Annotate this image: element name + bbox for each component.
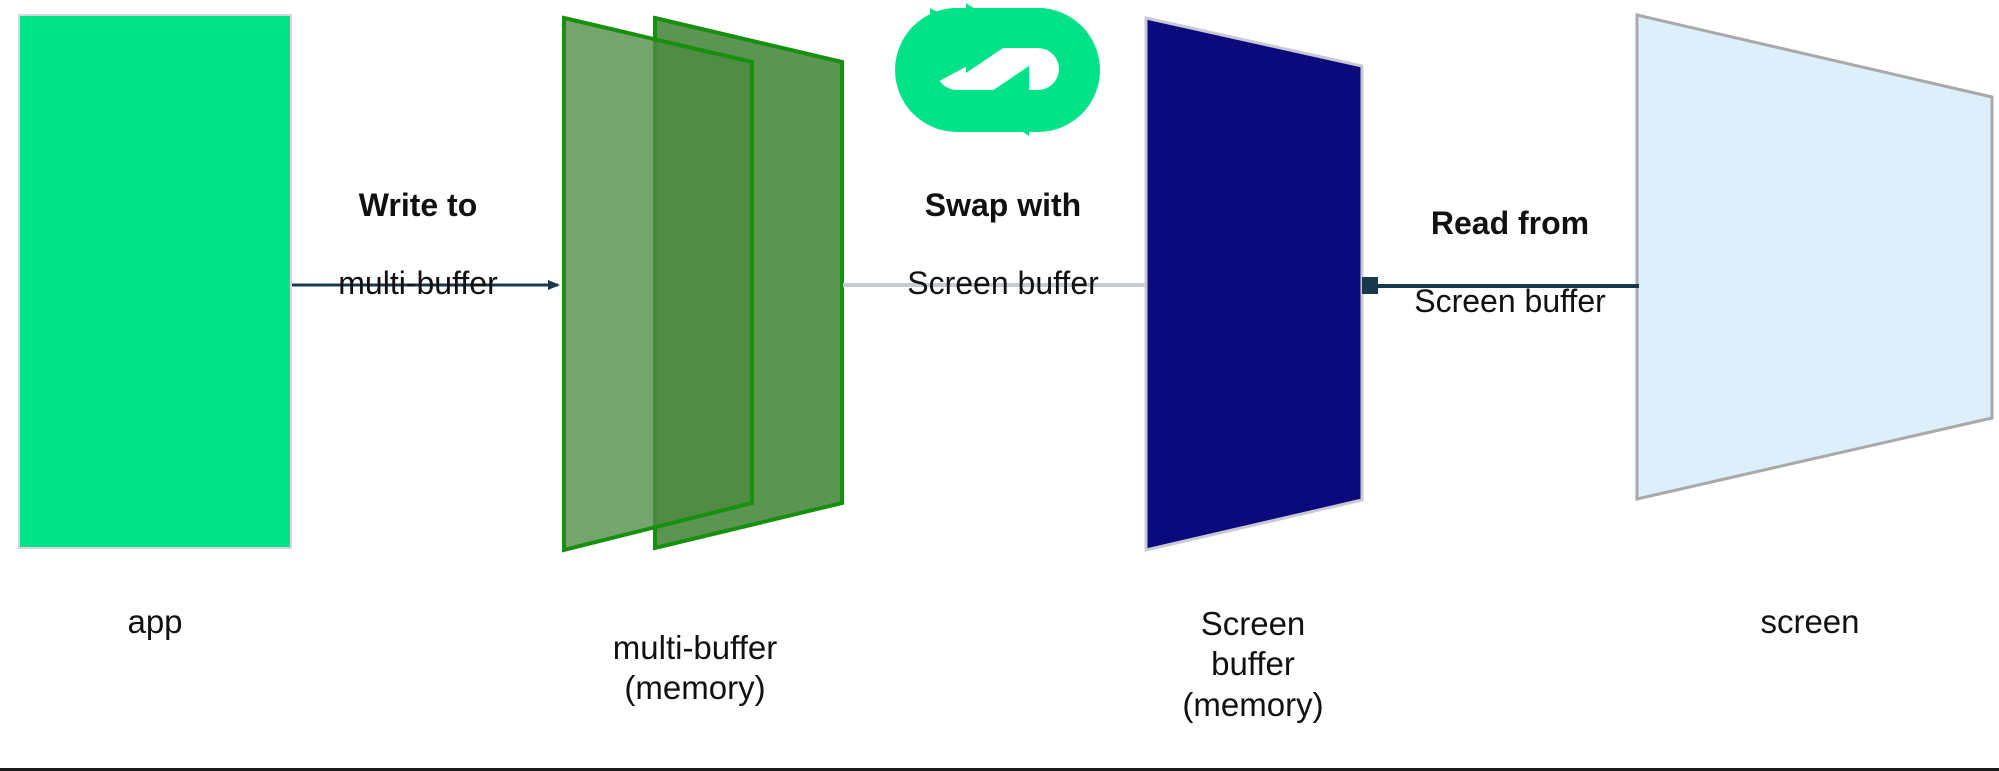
node-multi-buffer-label: multi-buffer (memory) [545, 628, 845, 709]
edge-write-label-regular: multi-buffer [280, 264, 556, 303]
diagram-canvas: app multi-buffer (memory) Screen buffer … [0, 0, 1999, 771]
edge-swap-label-regular: Screen buffer [855, 264, 1151, 303]
edge-swap-label-bold: Swap with [855, 186, 1151, 225]
diagram-shapes-layer [0, 0, 1999, 771]
node-screen-buffer-shape[interactable] [1146, 18, 1362, 550]
node-screen-buffer-label: Screen buffer (memory) [1113, 604, 1393, 725]
node-screen-label: screen [1670, 602, 1950, 642]
node-multi-buffer-slab-front[interactable] [564, 18, 752, 550]
edge-write-label: Write to multi-buffer [280, 147, 556, 342]
edge-swap-label: Swap with Screen buffer [855, 147, 1151, 342]
edge-read-label: Read from Screen buffer [1366, 165, 1654, 360]
node-app-label: app [18, 602, 292, 642]
edge-read-label-bold: Read from [1366, 204, 1654, 243]
edge-write-label-bold: Write to [280, 186, 556, 225]
edge-read-label-regular: Screen buffer [1366, 282, 1654, 321]
node-screen-shape[interactable] [1637, 15, 1992, 499]
